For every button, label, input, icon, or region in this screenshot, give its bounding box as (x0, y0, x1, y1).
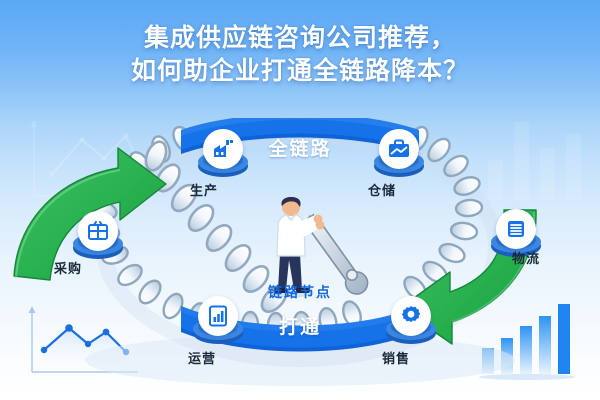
gear-icon (391, 296, 431, 336)
node-xiaoshou[interactable] (384, 293, 438, 347)
infographic-canvas: 集成供应链咨询公司推荐， 如何助企业打通全链路降本？ (0, 0, 600, 400)
node-label-wuliu: 物流 (512, 248, 540, 267)
ribbon-top-label: 全链路 (268, 134, 331, 161)
node-yunying[interactable] (191, 293, 245, 347)
warehouse-box-icon (379, 129, 419, 169)
node-label-xiaoshou: 销售 (382, 348, 410, 367)
stacked-layers-icon (496, 209, 536, 249)
node-label-yunying: 运营 (188, 348, 216, 367)
ribbon-bottom-label: 打通 (279, 312, 321, 339)
bar-chart-document-icon (198, 296, 238, 336)
node-shengchan[interactable] (196, 126, 250, 180)
node-caigou[interactable] (71, 208, 125, 262)
factory-icon (203, 129, 243, 169)
page-title-line-2: 如何助企业打通全链路降本？ (131, 58, 469, 85)
page-title-line-1: 集成供应链咨询公司推荐， (144, 25, 456, 52)
center-caption: 链路节点 (0, 282, 600, 302)
node-cangchu[interactable] (372, 126, 426, 180)
node-label-caigou: 采购 (54, 258, 82, 277)
node-label-cangchu: 仓储 (368, 180, 396, 199)
node-label-shengchan: 生产 (190, 180, 218, 199)
store-window-icon (78, 211, 118, 251)
